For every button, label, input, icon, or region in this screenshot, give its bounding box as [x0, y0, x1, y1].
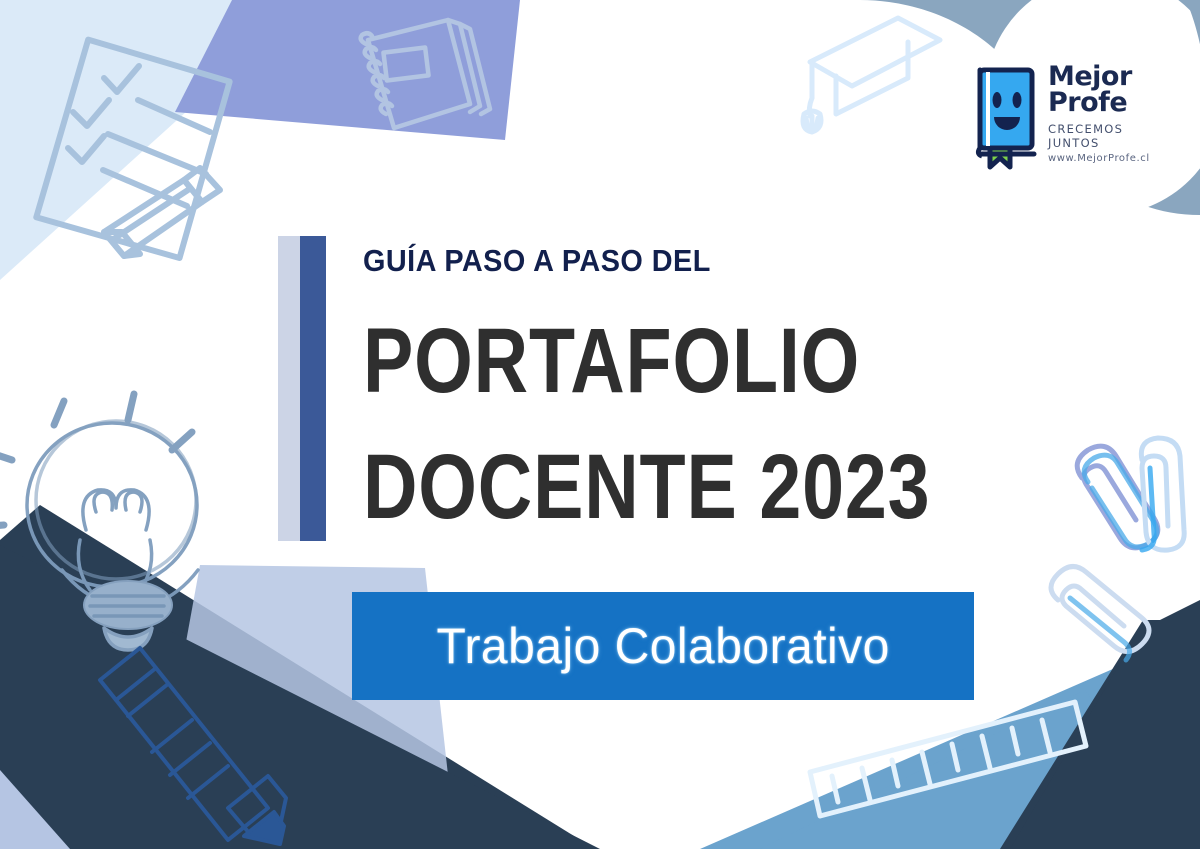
accent-bar-light	[278, 236, 300, 541]
headline-line-2: DOCENTE 2023	[363, 441, 930, 533]
title-text-group: GUÍA PASO A PASO DEL PORTAFOLIO DOCENTE …	[326, 236, 1055, 546]
logo-wordmark: Mejor Profe CRECEMOS JUNTOS www.MejorPro…	[1048, 62, 1178, 164]
logo-url: www.MejorProfe.cl	[1048, 153, 1178, 164]
spiral-notebook-icon	[361, 20, 490, 128]
title-block: GUÍA PASO A PASO DEL PORTAFOLIO DOCENTE …	[278, 236, 978, 546]
ruler-icon	[810, 702, 1086, 816]
headline-line-1: PORTAFOLIO	[363, 315, 930, 407]
paper-clips-icon	[1051, 438, 1184, 660]
accent-bar-dark	[300, 236, 326, 541]
cover-page: GUÍA PASO A PASO DEL PORTAFOLIO DOCENTE …	[0, 0, 1200, 849]
lightbulb-icon	[0, 394, 198, 650]
logo-tagline: CRECEMOS JUNTOS	[1048, 122, 1178, 150]
logo-name-line-2: Profe	[1048, 90, 1178, 116]
subtitle-banner: Trabajo Colaborativo	[352, 592, 974, 700]
accent-bars	[278, 236, 326, 541]
kicker-text: GUÍA PASO A PASO DEL	[363, 243, 1007, 279]
graduation-cap-icon	[803, 18, 940, 132]
pencil-large-icon	[100, 648, 286, 844]
brand-logo: Mejor Profe CRECEMOS JUNTOS www.MejorPro…	[972, 62, 1178, 178]
book-smiley-icon	[972, 62, 1038, 170]
subtitle-banner-label: Trabajo Colaborativo	[436, 617, 889, 675]
